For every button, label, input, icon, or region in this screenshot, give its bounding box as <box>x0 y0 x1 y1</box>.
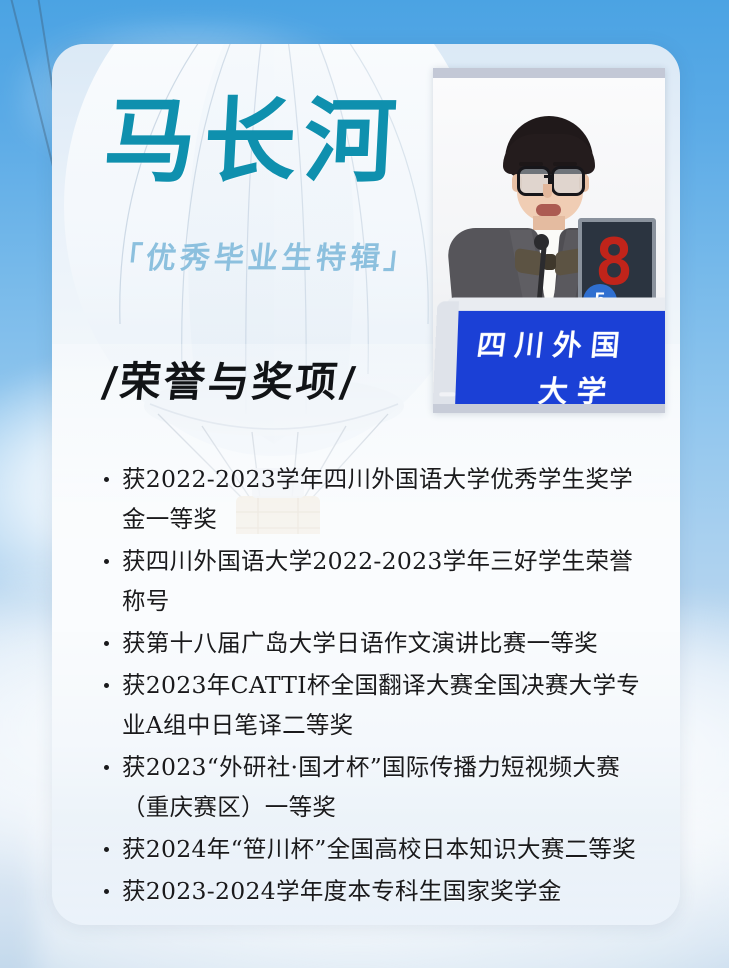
bullet-dot <box>104 683 109 688</box>
list-item: 获2023年CATTI杯全国翻译大赛全国决赛大学专业A组中日笔译二等奖 <box>98 665 646 745</box>
photo-top-bar <box>433 68 665 78</box>
list-item: 获四川外国语大学2022-2023学年三好学生荣誉称号 <box>98 541 646 621</box>
person-mouth <box>536 204 561 216</box>
bullet-dot <box>104 641 109 646</box>
person-glasses-bridge <box>544 175 553 178</box>
person-nose <box>543 184 552 198</box>
microphone-head <box>534 234 549 250</box>
list-item: 获2022-2023学年四川外国语大学优秀学生奖学金一等奖 <box>98 459 646 539</box>
lectern: 四川外国 大学 <box>449 305 665 404</box>
list-item: 获2023“外研社·国才杯”国际传播力短视频大赛（重庆赛区）一等奖 <box>98 747 646 827</box>
photo-stage: 8 5 四川外国 大学 <box>433 78 665 404</box>
lectern-top-edge <box>447 297 665 310</box>
bullet-dot <box>104 889 109 894</box>
bullet-dot <box>104 559 109 564</box>
bullet-dot <box>104 765 109 770</box>
photo-bottom-bar <box>433 404 665 413</box>
awards-list: 获2022-2023学年四川外国语大学优秀学生奖学金一等奖 获四川外国语大学20… <box>98 459 646 913</box>
lectern-text-line1: 四川外国 <box>474 323 665 364</box>
lectern-university-name: 四川外国 大学 <box>475 323 665 404</box>
award-text: 获第十八届广岛大学日语作文演讲比赛一等奖 <box>122 623 646 663</box>
page-title: 马长河 <box>102 96 407 188</box>
award-text: 获2024年“笹川杯”全国高校日本知识大赛二等奖 <box>122 829 646 869</box>
bullet-dot <box>104 847 109 852</box>
poster-card: 马长河 「优秀毕业生特辑」 /荣誉与奖项/ <box>52 44 680 925</box>
list-item: 获2024年“笹川杯”全国高校日本知识大赛二等奖 <box>98 829 646 869</box>
list-item: 获第十八届广岛大学日语作文演讲比赛一等奖 <box>98 623 646 663</box>
poster-subtitle: 「优秀毕业生特辑」 <box>110 244 419 274</box>
lectern-marking <box>439 392 455 396</box>
lectern-text-line2: 大学 <box>536 368 665 404</box>
award-text: 获2022-2023学年四川外国语大学优秀学生奖学金一等奖 <box>122 459 646 539</box>
lectern-side-panel <box>433 301 459 404</box>
award-text: 获四川外国语大学2022-2023学年三好学生荣誉称号 <box>122 541 646 621</box>
bullet-dot <box>104 477 109 482</box>
list-item: 获2023-2024学年度本专科生国家奖学金 <box>98 871 646 911</box>
led-timer-digit-partial <box>636 230 660 298</box>
person-glasses-right-lens <box>551 166 585 196</box>
student-photo: 8 5 四川外国 大学 <box>433 68 665 413</box>
award-text: 获2023“外研社·国才杯”国际传播力短视频大赛（重庆赛区）一等奖 <box>122 747 646 827</box>
person-bow-tie <box>515 250 583 274</box>
section-heading-honors: /荣誉与奖项/ <box>100 362 360 403</box>
award-text: 获2023-2024学年度本专科生国家奖学金 <box>122 871 646 911</box>
award-text: 获2023年CATTI杯全国翻译大赛全国决赛大学专业A组中日笔译二等奖 <box>122 665 646 745</box>
